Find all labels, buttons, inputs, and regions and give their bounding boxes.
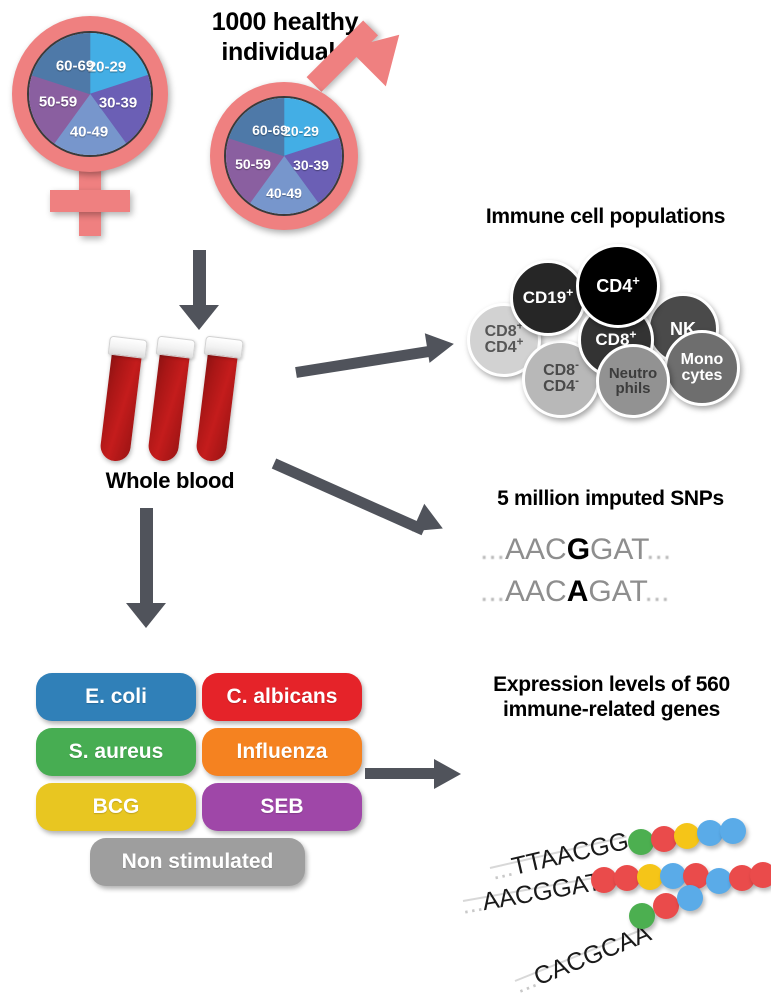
cell-label: CD8+ CD4+ bbox=[485, 324, 524, 357]
snp-trailing-dots: ... bbox=[645, 575, 670, 608]
stimulus-label: C. albicans bbox=[227, 685, 338, 709]
stimulus-label: S. aureus bbox=[69, 740, 164, 764]
pie-label-60-69: 60-69 bbox=[56, 58, 94, 75]
snp-leading-dots: ... bbox=[480, 575, 505, 608]
pie-label-30-39-male: 30-39 bbox=[293, 157, 329, 173]
stimulus-e-coli[interactable]: E. coli bbox=[36, 673, 196, 721]
cell-label: CD8- CD4- bbox=[543, 363, 579, 396]
blood-tube-body bbox=[99, 350, 142, 463]
stimulus-non-stimulated[interactable]: Non stimulated bbox=[90, 838, 305, 886]
snp-sequence-row-1: ...AACGGAT... bbox=[480, 533, 671, 567]
cell-label: Neutrophils bbox=[609, 366, 657, 397]
blood-tube-body bbox=[147, 350, 190, 463]
cell-label: Monocytes bbox=[681, 352, 724, 385]
cell-neutrophils: Neutrophils bbox=[596, 344, 670, 418]
stimulus-influenza[interactable]: Influenza bbox=[202, 728, 362, 776]
snp-suffix-bases: GAT bbox=[590, 533, 646, 566]
expression-bead bbox=[674, 823, 700, 849]
snp-prefix-bases: AAC bbox=[505, 533, 567, 566]
cell-label: CD4+ bbox=[596, 277, 640, 295]
expression-bead bbox=[720, 818, 746, 844]
immune-cell-cluster: CD8+ CD4+ CD19+ CD4+ CD8+ NK CD8- CD4- N… bbox=[466, 240, 766, 415]
stimulus-label: Influenza bbox=[236, 740, 327, 764]
pie-label-50-59: 50-59 bbox=[39, 94, 77, 111]
pie-label-40-49-male: 40-49 bbox=[266, 185, 302, 201]
expression-bead bbox=[750, 862, 771, 888]
stimulus-label: Non stimulated bbox=[122, 850, 274, 874]
snp-variant-base: G bbox=[567, 533, 590, 566]
expression-bead bbox=[591, 867, 617, 893]
sequence-bases: CACGCAA bbox=[530, 919, 655, 991]
stimulus-label: E. coli bbox=[85, 685, 147, 709]
expression-sequence-3: ...CACGCAA bbox=[511, 919, 656, 1000]
cell-cd19pos: CD19+ bbox=[510, 260, 586, 336]
snp-sequence-row-2: ...AACAGAT... bbox=[480, 575, 670, 609]
expression-bead bbox=[629, 903, 655, 929]
whole-blood-tubes bbox=[110, 330, 280, 470]
stimulation-panel: E. coli C. albicans S. aureus Influenza … bbox=[30, 673, 350, 898]
cell-cd4pos: CD4+ bbox=[576, 244, 660, 328]
section-title-immune: Immune cell populations bbox=[440, 205, 771, 230]
snp-variant-base: A bbox=[567, 575, 589, 608]
expression-bead bbox=[706, 868, 732, 894]
stimulus-s-aureus[interactable]: S. aureus bbox=[36, 728, 196, 776]
section-title-snp: 5 million imputed SNPs bbox=[450, 487, 771, 512]
pie-label-40-49: 40-49 bbox=[70, 124, 108, 141]
cell-label: CD19+ bbox=[523, 289, 574, 306]
snp-sequence-block: ...AACGGAT... ...AACAGAT... bbox=[480, 533, 760, 613]
pie-label-50-59-male: 50-59 bbox=[235, 156, 271, 172]
snp-trailing-dots: ... bbox=[646, 533, 671, 566]
snp-leading-dots: ... bbox=[480, 533, 505, 566]
cell-monocytes: Monocytes bbox=[664, 330, 740, 406]
snp-suffix-bases: GAT bbox=[588, 575, 644, 608]
expression-bead bbox=[653, 893, 679, 919]
expression-bead bbox=[697, 820, 723, 846]
expression-bead bbox=[628, 829, 654, 855]
snp-prefix-bases: AAC bbox=[505, 575, 567, 608]
male-age-pie: 20-29 30-39 40-49 50-59 60-69 bbox=[224, 96, 344, 216]
section-title-expression: Expression levels of 560 immune-related … bbox=[452, 673, 771, 723]
female-age-pie: 20-29 30-39 40-49 50-59 60-69 bbox=[27, 31, 153, 157]
expression-bead bbox=[651, 826, 677, 852]
female-symbol-crossbar bbox=[50, 190, 130, 212]
stimulus-seb[interactable]: SEB bbox=[202, 783, 362, 831]
pie-label-20-29-male: 20-29 bbox=[283, 123, 319, 139]
pie-label-60-69-male: 60-69 bbox=[252, 122, 288, 138]
stimulus-label: BCG bbox=[93, 795, 140, 819]
blood-tube-body bbox=[195, 350, 238, 463]
expression-bead bbox=[677, 885, 703, 911]
pie-label-30-39: 30-39 bbox=[99, 95, 137, 112]
stimulus-bcg[interactable]: BCG bbox=[36, 783, 196, 831]
expression-sequence-block: ...TTAACGG ...AACGGAT ...CACGCAA bbox=[470, 745, 771, 910]
label-whole-blood: Whole blood bbox=[60, 468, 280, 494]
stimulus-label: SEB bbox=[260, 795, 303, 819]
stimulus-c-albicans[interactable]: C. albicans bbox=[202, 673, 362, 721]
